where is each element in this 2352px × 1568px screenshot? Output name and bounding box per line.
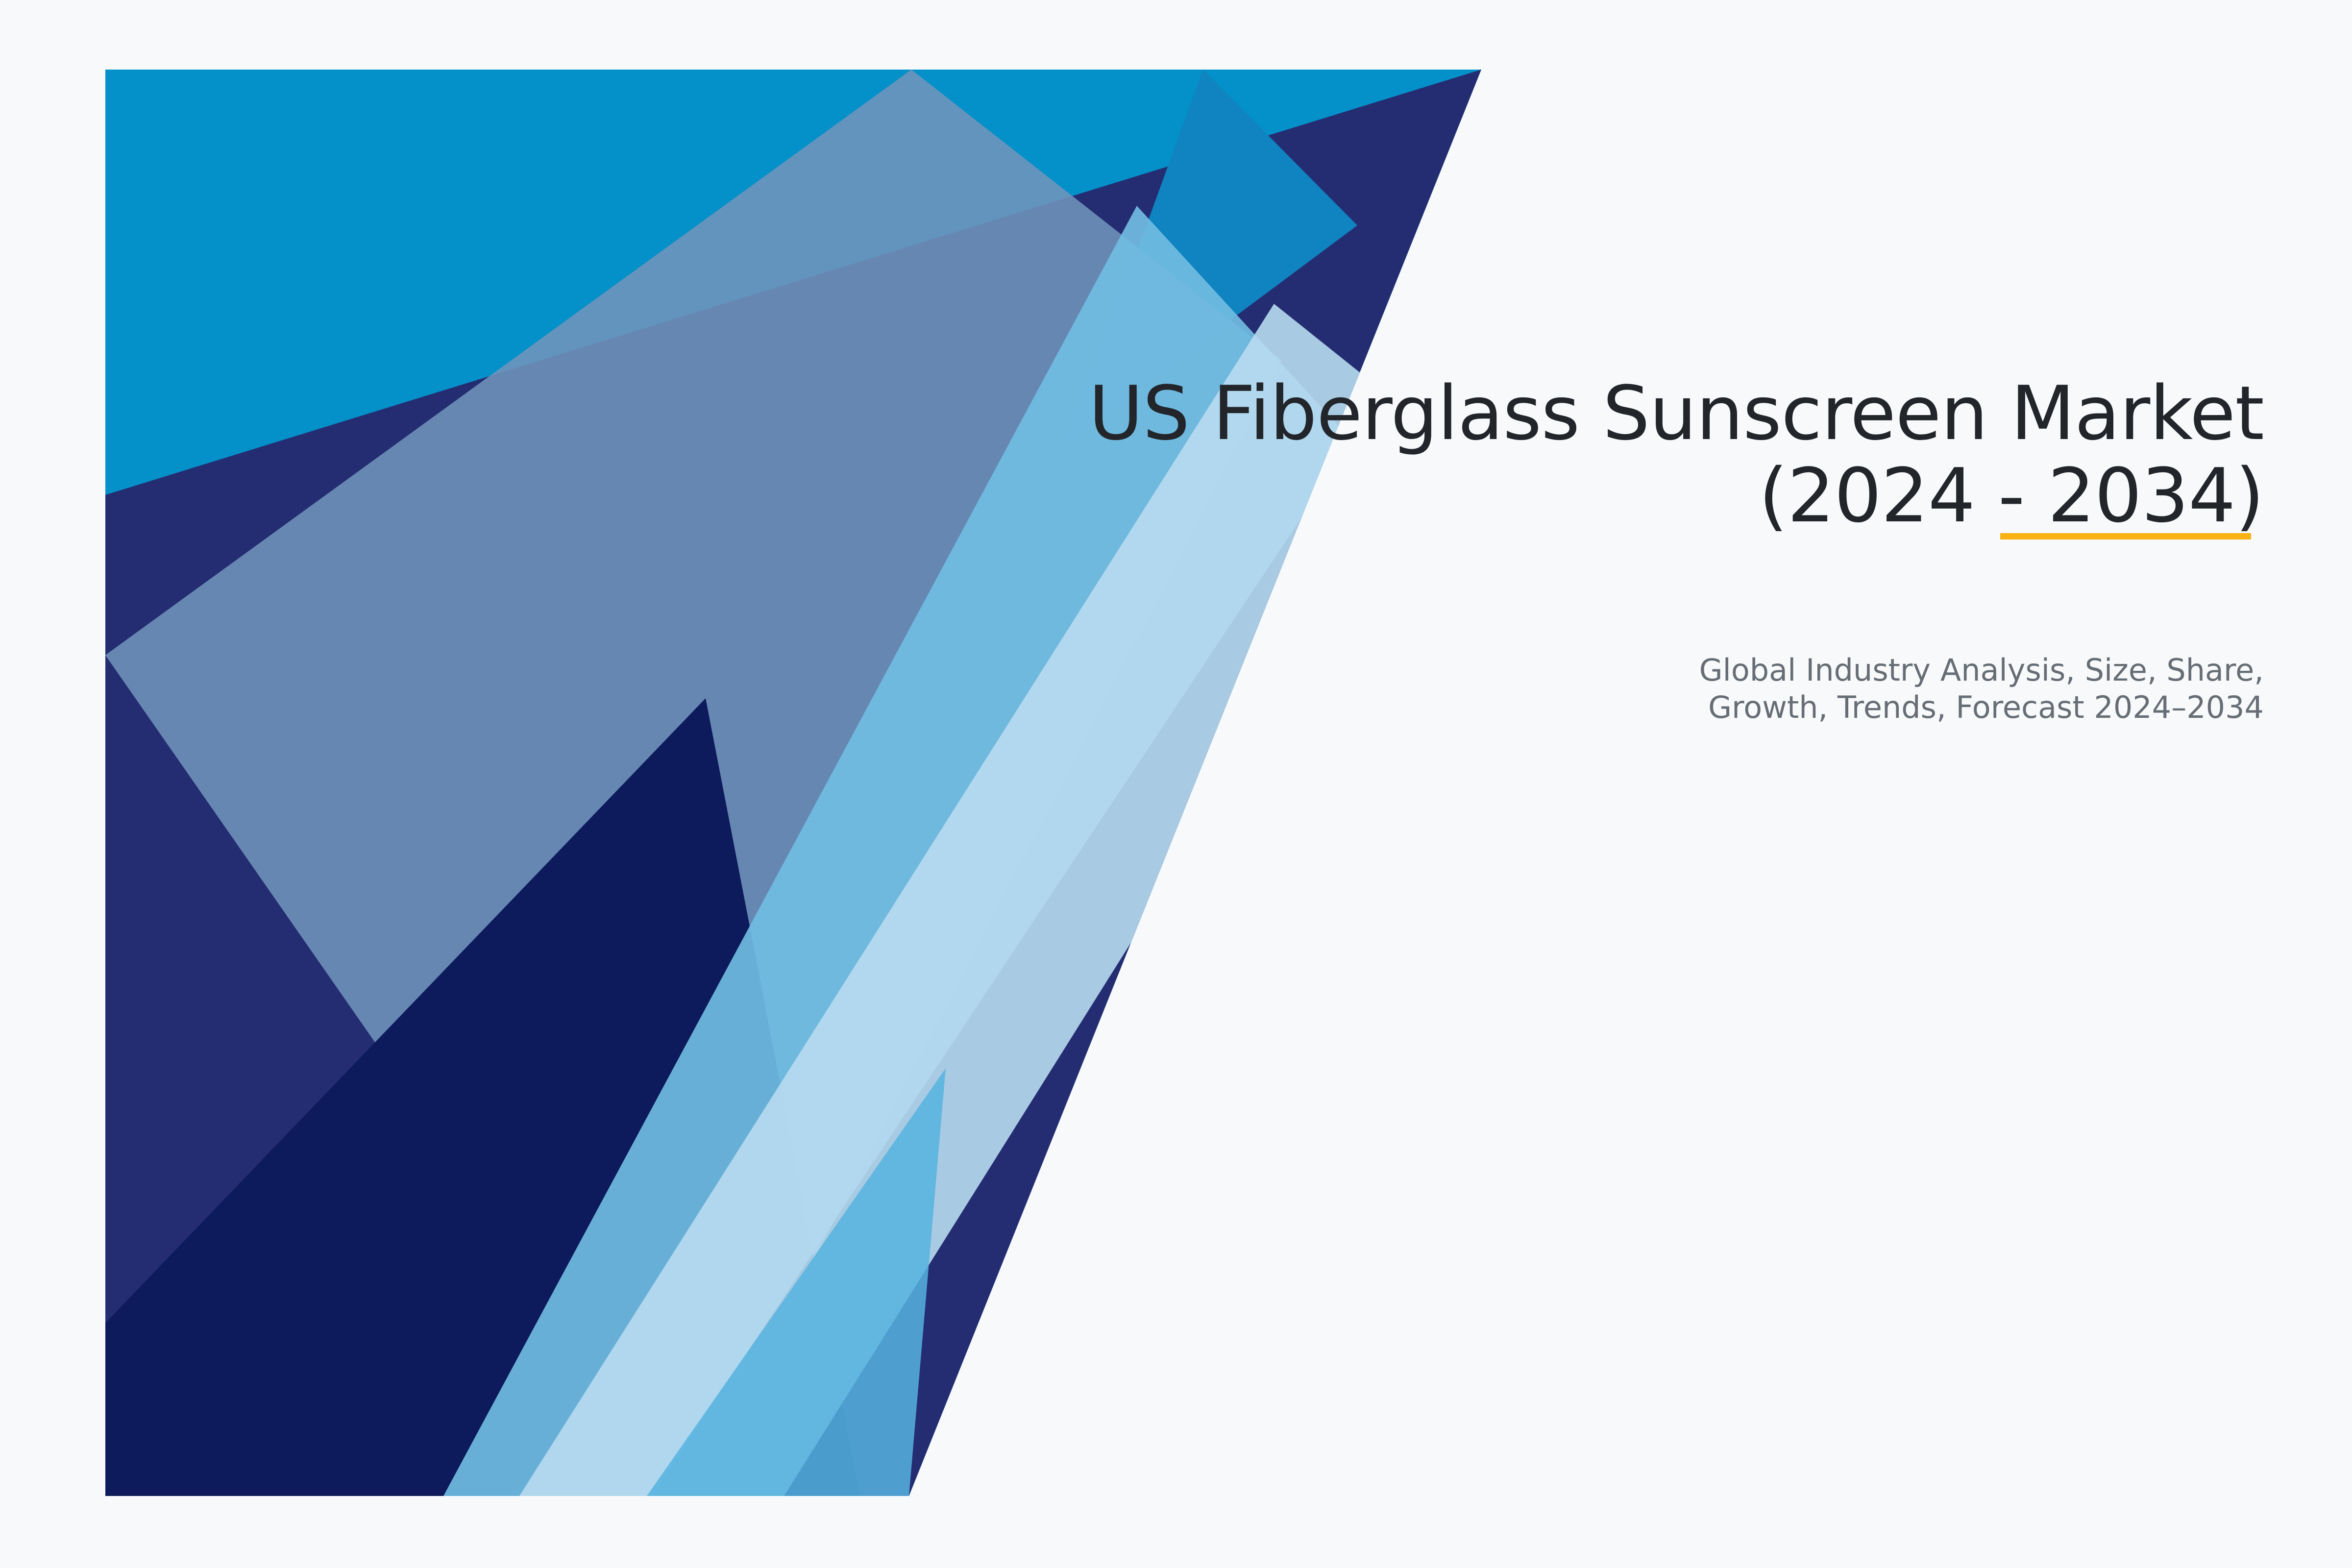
page-subtitle-line-2: Growth, Trends, Forecast 2024–2034 (1274, 689, 2264, 726)
page-subtitle-line-1: Global Industry Analysis, Size, Share, (1274, 652, 2264, 689)
page-title-line-1: US Fiberglass Sunscreen Market (1029, 372, 2264, 455)
page-title-line-2: (2024 - 2034) (1029, 455, 2264, 537)
page-subtitle: Global Industry Analysis, Size, Share, G… (1274, 652, 2264, 726)
cover-title-block: US Fiberglass Sunscreen Market (2024 - 2… (1029, 372, 2264, 537)
cover-page: US Fiberglass Sunscreen Market (2024 - 2… (0, 0, 2352, 1568)
abstract-polygon-artwork (0, 0, 2352, 1568)
